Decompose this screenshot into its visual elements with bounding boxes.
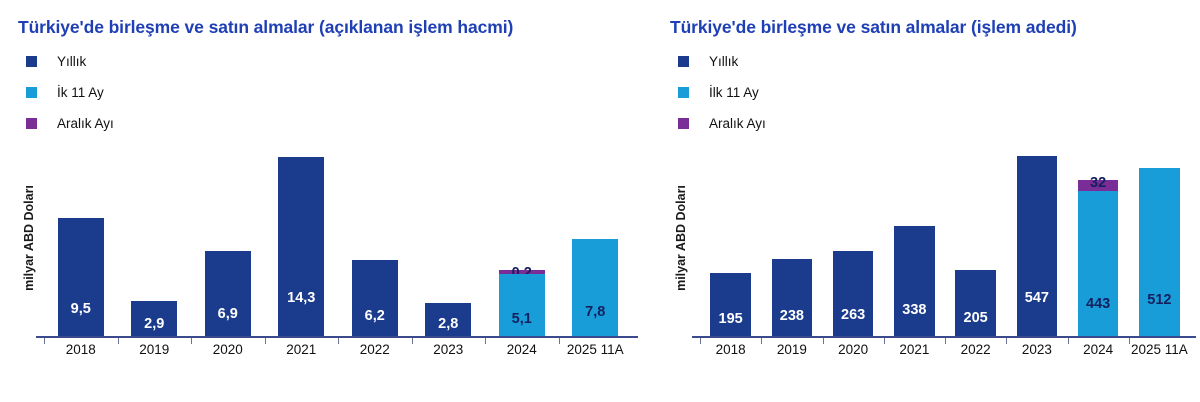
legend-item-yillik: Yıllık (26, 46, 640, 77)
chart-panel-count: Türkiye'de birleşme ve satın almalar (iş… (640, 0, 1200, 402)
bar[interactable]: 7,8 (572, 239, 618, 338)
legend-label-aralik-ayi: Aralık Ayı (57, 116, 114, 131)
legend-label-ilk-11-ay: İlk 11 Ay (709, 85, 759, 100)
bar-value-label: 512 (1139, 292, 1179, 308)
bar[interactable]: 6,2 (352, 260, 398, 339)
legend-count: Yıllık İlk 11 Ay Aralık Ayı (670, 46, 1200, 139)
x-axis-label: 2022 (338, 342, 412, 357)
bar-slot: 512 (1129, 145, 1190, 338)
bar-slot: 205 (945, 145, 1006, 338)
x-axis-label: 2020 (823, 342, 884, 357)
bar-slot: 14,3 (265, 145, 339, 338)
plot-area-count: milyar ABD Doları 1952382633382055473244… (670, 145, 1200, 360)
bar-value-label: 195 (710, 311, 750, 327)
bar-slot: 0,25,1 (485, 145, 559, 338)
x-axis-label: 2021 (265, 342, 339, 357)
bar[interactable]: 547 (1017, 156, 1057, 338)
y-axis-label-text-count: milyar ABD Doları (674, 185, 688, 291)
bar-group-volume: 9,52,96,914,36,22,80,25,17,8 (44, 145, 632, 338)
x-axis-label: 2018 (44, 342, 118, 357)
legend-item-ilk-11-ay: İk 11 Ay (26, 77, 640, 108)
legend-swatch-aralik-ayi-icon (678, 118, 689, 129)
bar[interactable]: 14,3 (278, 157, 324, 339)
legend-label-aralik-ayi: Aralık Ayı (709, 116, 766, 131)
chart-title-count: Türkiye'de birleşme ve satın almalar (iş… (670, 0, 1200, 37)
bar-slot: 6,2 (338, 145, 412, 338)
legend-item-aralik-ayi: Aralık Ayı (678, 108, 1200, 139)
bar-segment-y-ll-k[interactable]: 6,2 (352, 260, 398, 339)
legend-swatch-ilk-11-ay-icon (26, 87, 37, 98)
bar[interactable]: 195 (710, 273, 750, 338)
bar[interactable]: 2,8 (425, 303, 471, 339)
bar-value-label: 338 (894, 302, 934, 318)
bar-value-label: 2,8 (425, 316, 471, 332)
bar[interactable]: 338 (894, 226, 934, 338)
bar-slot: 32443 (1068, 145, 1129, 338)
x-axis-label: 2021 (884, 342, 945, 357)
chart-title-volume: Türkiye'de birleşme ve satın almalar (aç… (18, 0, 640, 37)
bar-value-label: 238 (772, 308, 812, 324)
x-axis-label: 2019 (118, 342, 192, 357)
legend-item-aralik-ayi: Aralık Ayı (26, 108, 640, 139)
bar-slot: 195 (700, 145, 761, 338)
bar-value-label: 32 (1078, 175, 1118, 191)
bar-segment-y-ll-k[interactable]: 6,9 (205, 251, 251, 339)
bar-segment-i-lk-11-ay[interactable]: 7,8 (572, 239, 618, 338)
bar-slot: 338 (884, 145, 945, 338)
bar-slot: 9,5 (44, 145, 118, 338)
x-axis-label: 2024 (1068, 342, 1129, 357)
bar-segment-aral-k-ay[interactable]: 32 (1078, 180, 1118, 191)
legend-label-ilk-11-ay: İk 11 Ay (57, 85, 104, 100)
bar-value-label: 443 (1078, 296, 1118, 312)
bar[interactable]: 6,9 (205, 251, 251, 339)
bar-value-label: 2,9 (131, 316, 177, 332)
bar[interactable]: 2,9 (131, 301, 177, 338)
x-axis-label: 2022 (945, 342, 1006, 357)
dual-bar-chart-figure: Türkiye'de birleşme ve satın almalar (aç… (0, 0, 1200, 402)
x-axis-label: 2023 (1006, 342, 1067, 357)
x-axis-label: 2019 (761, 342, 822, 357)
bar-segment-y-ll-k[interactable]: 2,8 (425, 303, 471, 339)
bar-slot: 263 (823, 145, 884, 338)
bar[interactable]: 512 (1139, 168, 1179, 338)
y-axis-label-volume: milyar ABD Doları (18, 145, 40, 330)
bar-segment-y-ll-k[interactable]: 338 (894, 226, 934, 338)
bar-segment-i-lk-11-ay[interactable]: 512 (1139, 168, 1179, 338)
bar-slot: 547 (1006, 145, 1067, 338)
legend-swatch-ilk-11-ay-icon (678, 87, 689, 98)
bar-segment-y-ll-k[interactable]: 547 (1017, 156, 1057, 338)
bar[interactable]: 32443 (1078, 180, 1118, 338)
plot-area-volume: milyar ABD Doları 9,52,96,914,36,22,80,2… (18, 145, 640, 360)
legend-swatch-yillik-icon (26, 56, 37, 67)
legend-item-ilk-11-ay: İlk 11 Ay (678, 77, 1200, 108)
bar-slot: 2,9 (118, 145, 192, 338)
x-axis-label: 2025 11A (559, 342, 633, 357)
bar-slot: 238 (761, 145, 822, 338)
y-axis-label-text-volume: milyar ABD Doları (22, 185, 36, 291)
bar-segment-i-lk-11-ay[interactable]: 443 (1078, 191, 1118, 338)
legend-swatch-aralik-ayi-icon (26, 118, 37, 129)
legend-swatch-yillik-icon (678, 56, 689, 67)
bar-value-label: 7,8 (572, 304, 618, 320)
bar-value-label: 14,3 (278, 290, 324, 306)
bar-segment-y-ll-k[interactable]: 14,3 (278, 157, 324, 339)
bar-value-label: 547 (1017, 290, 1057, 306)
chart-panel-volume: Türkiye'de birleşme ve satın almalar (aç… (0, 0, 640, 402)
x-axis-label: 2024 (485, 342, 559, 357)
bar[interactable]: 263 (833, 251, 873, 339)
bar[interactable]: 9,5 (58, 218, 104, 339)
bar-value-label: 205 (955, 310, 995, 326)
bar-segment-y-ll-k[interactable]: 9,5 (58, 218, 104, 339)
bar-segment-y-ll-k[interactable]: 2,9 (131, 301, 177, 338)
bar-segment-y-ll-k[interactable]: 205 (955, 270, 995, 338)
bar-slot: 6,9 (191, 145, 265, 338)
bar-segment-y-ll-k[interactable]: 263 (833, 251, 873, 339)
bar-value-label: 263 (833, 307, 873, 323)
bar-segment-y-ll-k[interactable]: 238 (772, 259, 812, 338)
x-axis-label: 2018 (700, 342, 761, 357)
bar-value-label: 6,2 (352, 308, 398, 324)
bar[interactable]: 0,25,1 (499, 270, 545, 339)
bar-segment-i-lk-11-ay[interactable]: 5,1 (499, 274, 545, 339)
x-axis-label: 2023 (412, 342, 486, 357)
bar-value-label: 5,1 (499, 311, 545, 327)
legend-label-yillik: Yıllık (709, 54, 738, 69)
bar-segment-y-ll-k[interactable]: 195 (710, 273, 750, 338)
x-axis-labels-volume: 20182019202020212022202320242025 11A (44, 342, 632, 357)
bar[interactable]: 238 (772, 259, 812, 338)
bar-value-label: 9,5 (58, 301, 104, 317)
bar-value-label: 6,9 (205, 306, 251, 322)
legend-volume: Yıllık İk 11 Ay Aralık Ayı (18, 46, 640, 139)
x-axis-labels-count: 20182019202020212022202320242025 11A (700, 342, 1190, 357)
y-axis-label-count: milyar ABD Doları (670, 145, 692, 330)
bar-group-count: 19523826333820554732443512 (700, 145, 1190, 338)
bar[interactable]: 205 (955, 270, 995, 338)
legend-label-yillik: Yıllık (57, 54, 86, 69)
x-axis-label: 2025 11A (1129, 342, 1190, 357)
x-axis-label: 2020 (191, 342, 265, 357)
bar-slot: 7,8 (559, 145, 633, 338)
bar-slot: 2,8 (412, 145, 486, 338)
legend-item-yillik: Yıllık (678, 46, 1200, 77)
